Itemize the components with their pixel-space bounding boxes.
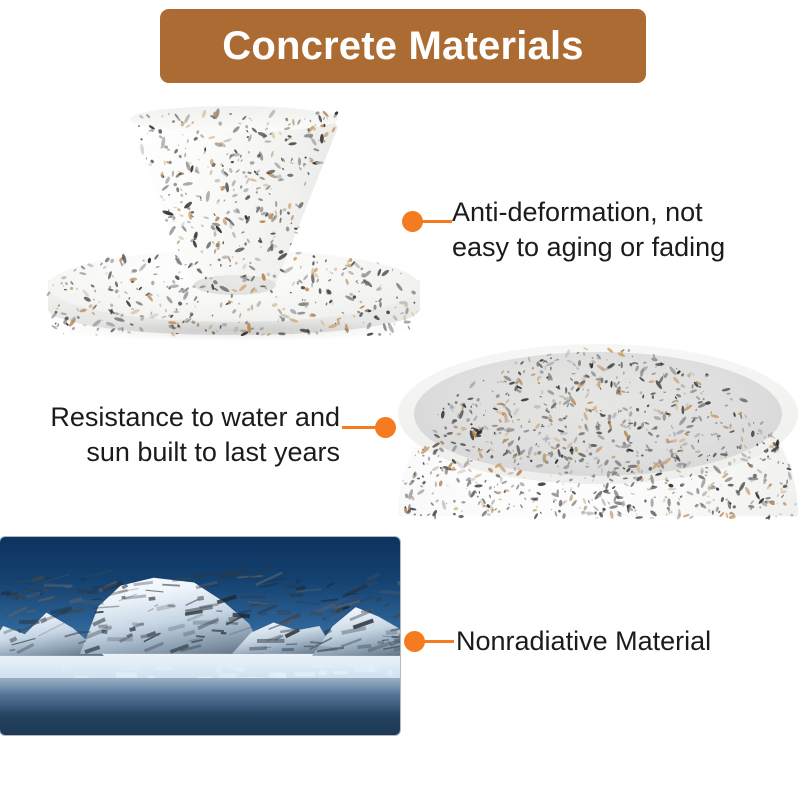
callout-line-water-sun-resistance — [342, 426, 378, 429]
infographic-page: Concrete Materials Anti-deforma — [0, 0, 800, 800]
callout-text-water-sun-resistance: Resistance to water and sun built to las… — [14, 400, 340, 469]
page-title: Concrete Materials — [222, 26, 584, 66]
pedestal-illustration — [20, 95, 440, 345]
bowl-cavity — [414, 352, 782, 476]
product-image-pedestal — [20, 95, 440, 345]
callout-text-nonradiative: Nonradiative Material — [456, 624, 786, 659]
title-banner: Concrete Materials — [160, 9, 646, 83]
callout-line-anti-deformation — [420, 220, 452, 223]
pedestal-column-foot — [194, 275, 276, 295]
landscape-photo — [0, 537, 400, 735]
product-image-bowl — [390, 340, 800, 540]
pedestal-shadow — [56, 319, 412, 341]
callout-line-nonradiative — [422, 640, 454, 643]
callout-dot-water-sun-resistance — [375, 417, 396, 438]
water-reflection — [0, 678, 400, 735]
pedestal-column-top — [130, 106, 338, 132]
callout-text-anti-deformation: Anti-deformation, not easy to aging or f… — [452, 195, 782, 264]
